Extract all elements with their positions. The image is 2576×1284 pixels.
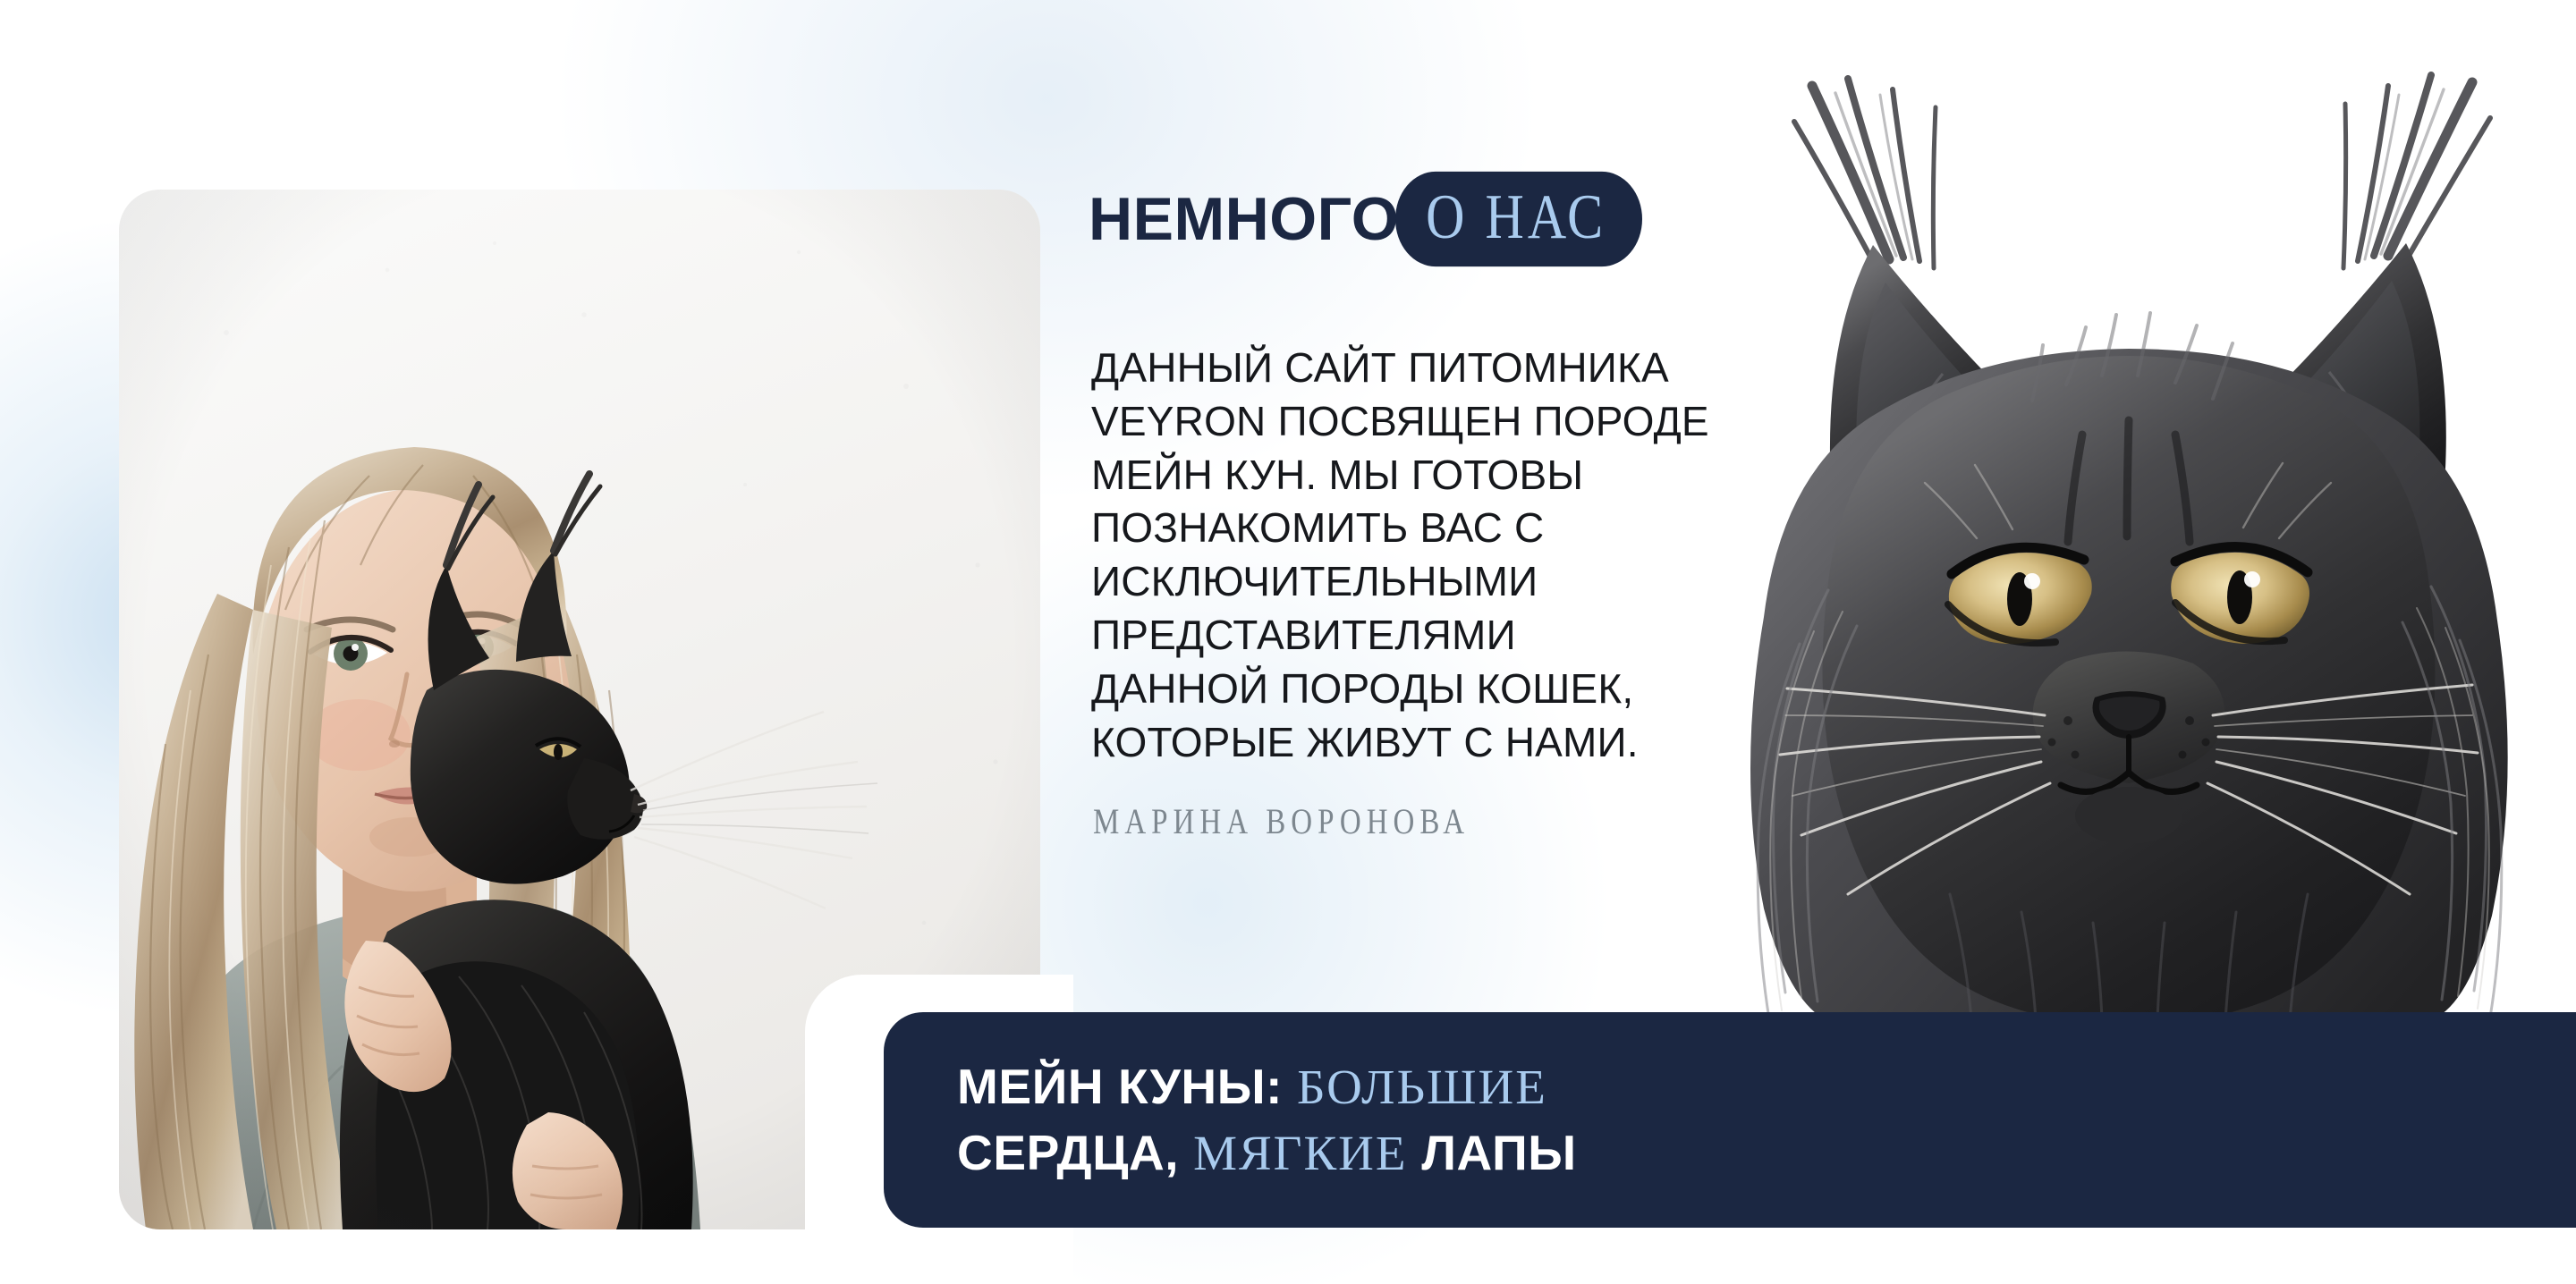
tagline-line-1: МЕЙН КУНЫ: БОЛЬШИЕ [957, 1054, 1577, 1120]
paragraph-line: VEYRON ПОСВЯЩЕН ПОРОДЕ [1091, 395, 1834, 449]
tagline-line1-primary: МЕЙН КУНЫ: [957, 1059, 1283, 1114]
paragraph-line: ДАННОЙ ПОРОДЫ КОШЕК, [1091, 663, 1834, 716]
about-section: НЕМНОГО О НАС ДАННЫЙ САЙТ ПИТОМНИКА VEYR… [0, 0, 2576, 1284]
tagline-line1-accent: БОЛЬШИЕ [1297, 1060, 1547, 1114]
tagline-line2-primary-b: ЛАПЫ [1421, 1125, 1576, 1180]
paragraph-line: ИСКЛЮЧИТЕЛЬНЫМИ [1091, 555, 1834, 609]
tagline-line-2: СЕРДЦА, МЯГКИЕ ЛАПЫ [957, 1120, 1577, 1187]
paragraph-line: КОТОРЫЕ ЖИВУТ С НАМИ. [1091, 716, 1834, 770]
tagline-line2-primary-a: СЕРДЦА, [957, 1125, 1179, 1180]
paragraph-line: ДАННЫЙ САЙТ ПИТОМНИКА [1091, 342, 1834, 395]
author-signature: МАРИНА ВОРОНОВА [1093, 803, 1470, 843]
about-paragraph: ДАННЫЙ САЙТ ПИТОМНИКА VEYRON ПОСВЯЩЕН ПО… [1091, 342, 1834, 769]
paragraph-line: ПРЕДСТАВИТЕЛЯМИ [1091, 609, 1834, 663]
tagline-text: МЕЙН КУНЫ: БОЛЬШИЕ СЕРДЦА, МЯГКИЕ ЛАПЫ [957, 1054, 1577, 1186]
heading-pill-badge: О НАС [1395, 172, 1642, 266]
section-heading: НЕМНОГО О НАС [1089, 179, 1642, 259]
heading-main-text: НЕМНОГО [1089, 189, 1399, 249]
tagline-line2-accent: МЯГКИЕ [1193, 1126, 1407, 1180]
paragraph-line: МЕЙН КУН. МЫ ГОТОВЫ [1091, 449, 1834, 503]
paragraph-line: ПОЗНАКОМИТЬ ВАС С [1091, 502, 1834, 555]
tagline-banner: МЕЙН КУНЫ: БОЛЬШИЕ СЕРДЦА, МЯГКИЕ ЛАПЫ [884, 1012, 2576, 1228]
